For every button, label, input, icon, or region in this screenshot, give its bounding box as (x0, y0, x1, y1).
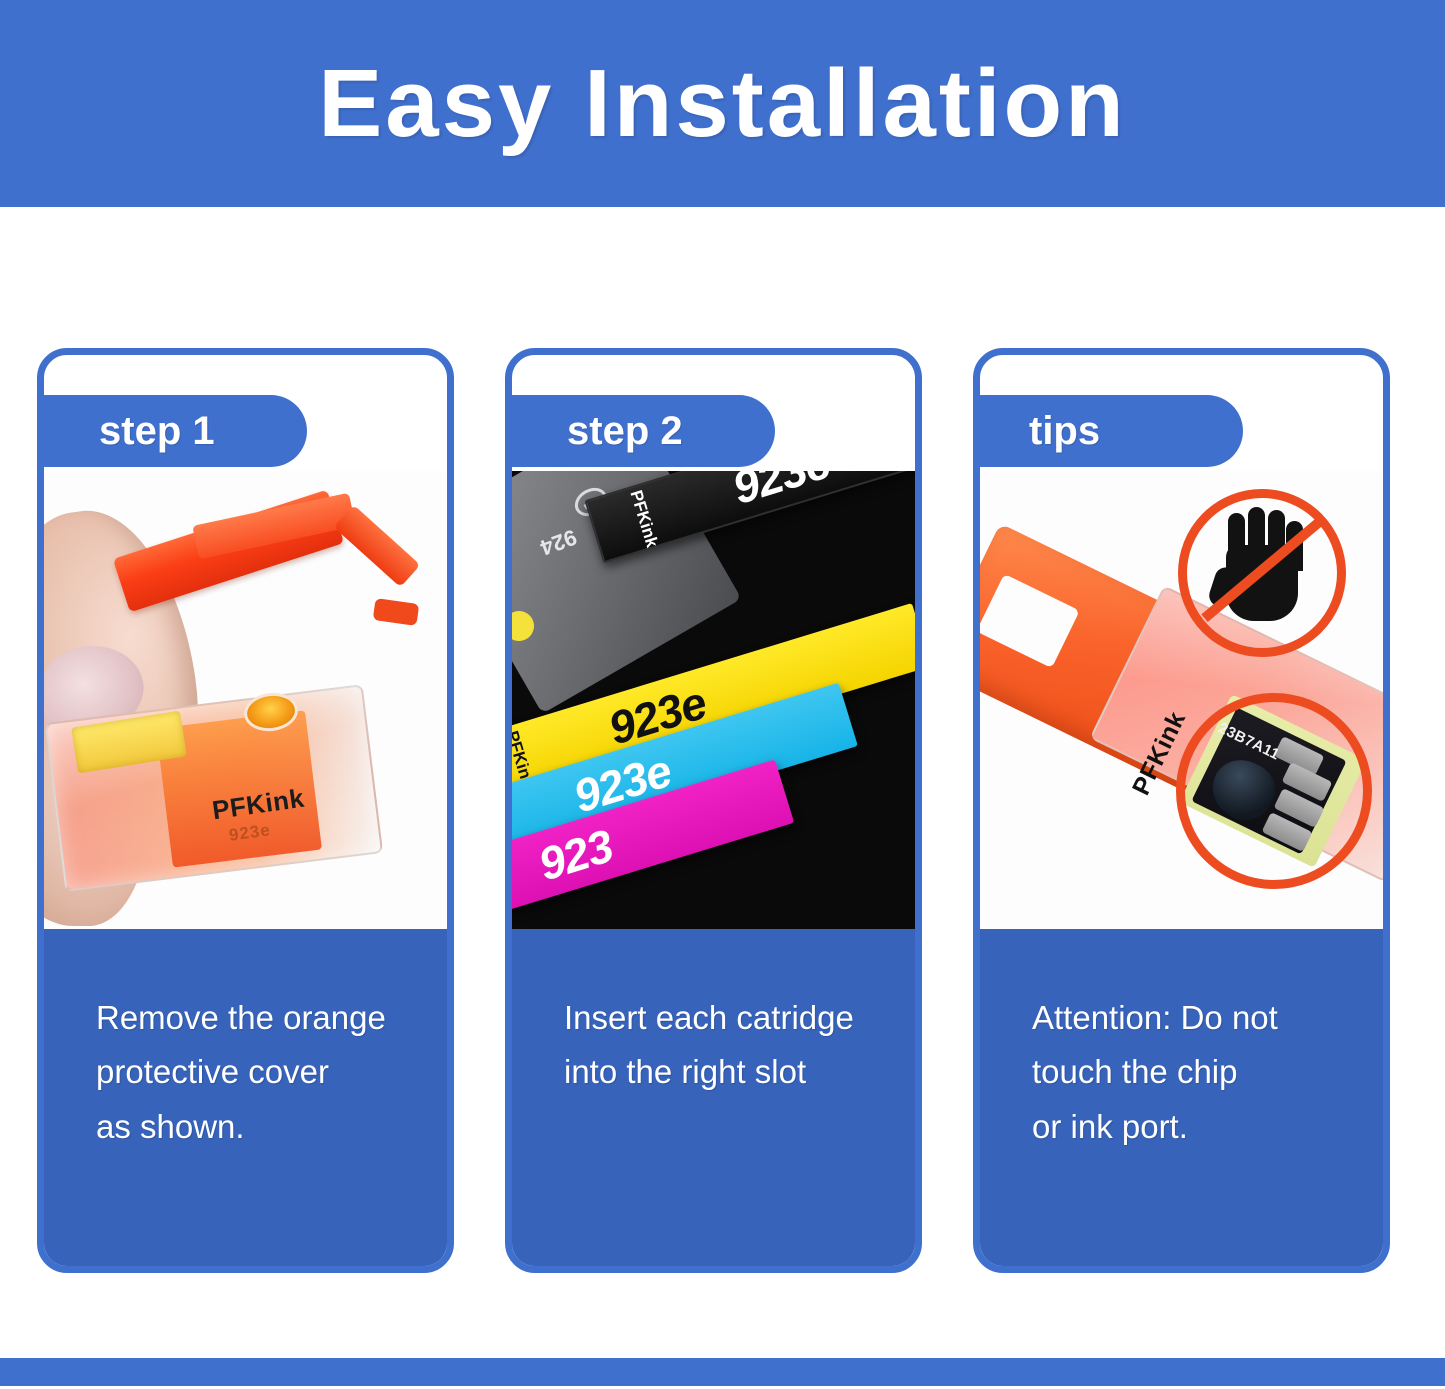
do-not-touch-chip-photo: PFKink 23B7A11 (980, 471, 1383, 929)
cartridge-sku-label: 923e (726, 471, 836, 515)
orange-clip-hook (373, 598, 420, 626)
page-title: Easy Installation (318, 56, 1127, 152)
caption-line: protective cover (96, 1045, 447, 1099)
caption-line: touch the chip (1032, 1045, 1383, 1099)
hand-removing-orange-cover-photo: PFKink 923e (44, 471, 447, 929)
step-card-2: step 2 924 PFKink 923e PFKink 923e PFKin… (505, 348, 922, 1273)
cartridge-black: PFKink 923e (584, 471, 915, 564)
caption-line: Insert each catridge (564, 991, 915, 1045)
caption-line: Remove the orange (96, 991, 447, 1045)
no-hand-icon (1178, 489, 1346, 657)
cartridge-brand-label: PFKink (619, 471, 667, 567)
header-banner: Easy Installation (0, 0, 1445, 207)
step-badge-1: step 1 (43, 395, 307, 467)
step-caption-3: Attention: Do not touch the chip or ink … (980, 929, 1383, 1266)
step-caption-1: Remove the orange protective cover as sh… (44, 929, 447, 1266)
badge-zone-1: step 1 (44, 355, 447, 471)
cartridges-in-printer-slots-photo: 924 PFKink 923e PFKink 923e PFKink 923e … (512, 471, 915, 929)
orange-clip-bend (334, 505, 421, 588)
caption-line: into the right slot (564, 1045, 915, 1099)
caption-line: Attention: Do not (1032, 991, 1383, 1045)
step-caption-2: Insert each catridge into the right slot (512, 929, 915, 1266)
chip-highlight-circle (1176, 693, 1372, 889)
badge-zone-2: step 2 (512, 355, 915, 471)
step-badge-label-2: step 2 (511, 411, 743, 451)
step-badge-2: step 2 (511, 395, 775, 467)
step-badge-label-1: step 1 (43, 411, 275, 451)
tips-badge-label: tips (979, 411, 1160, 451)
caption-line: as shown. (96, 1100, 447, 1154)
step-card-3: tips PFKink 23B7A11 (973, 348, 1390, 1273)
caption-line: or ink port. (1032, 1100, 1383, 1154)
badge-zone-3: tips (980, 355, 1383, 471)
bottom-accent-strip (0, 1358, 1445, 1386)
step-card-1: step 1 PFKink 923e Remove the orange pro… (37, 348, 454, 1273)
steps-card-row: step 1 PFKink 923e Remove the orange pro… (37, 348, 1390, 1273)
tips-badge: tips (979, 395, 1243, 467)
cartridge-sku-label: 923 (532, 818, 618, 891)
